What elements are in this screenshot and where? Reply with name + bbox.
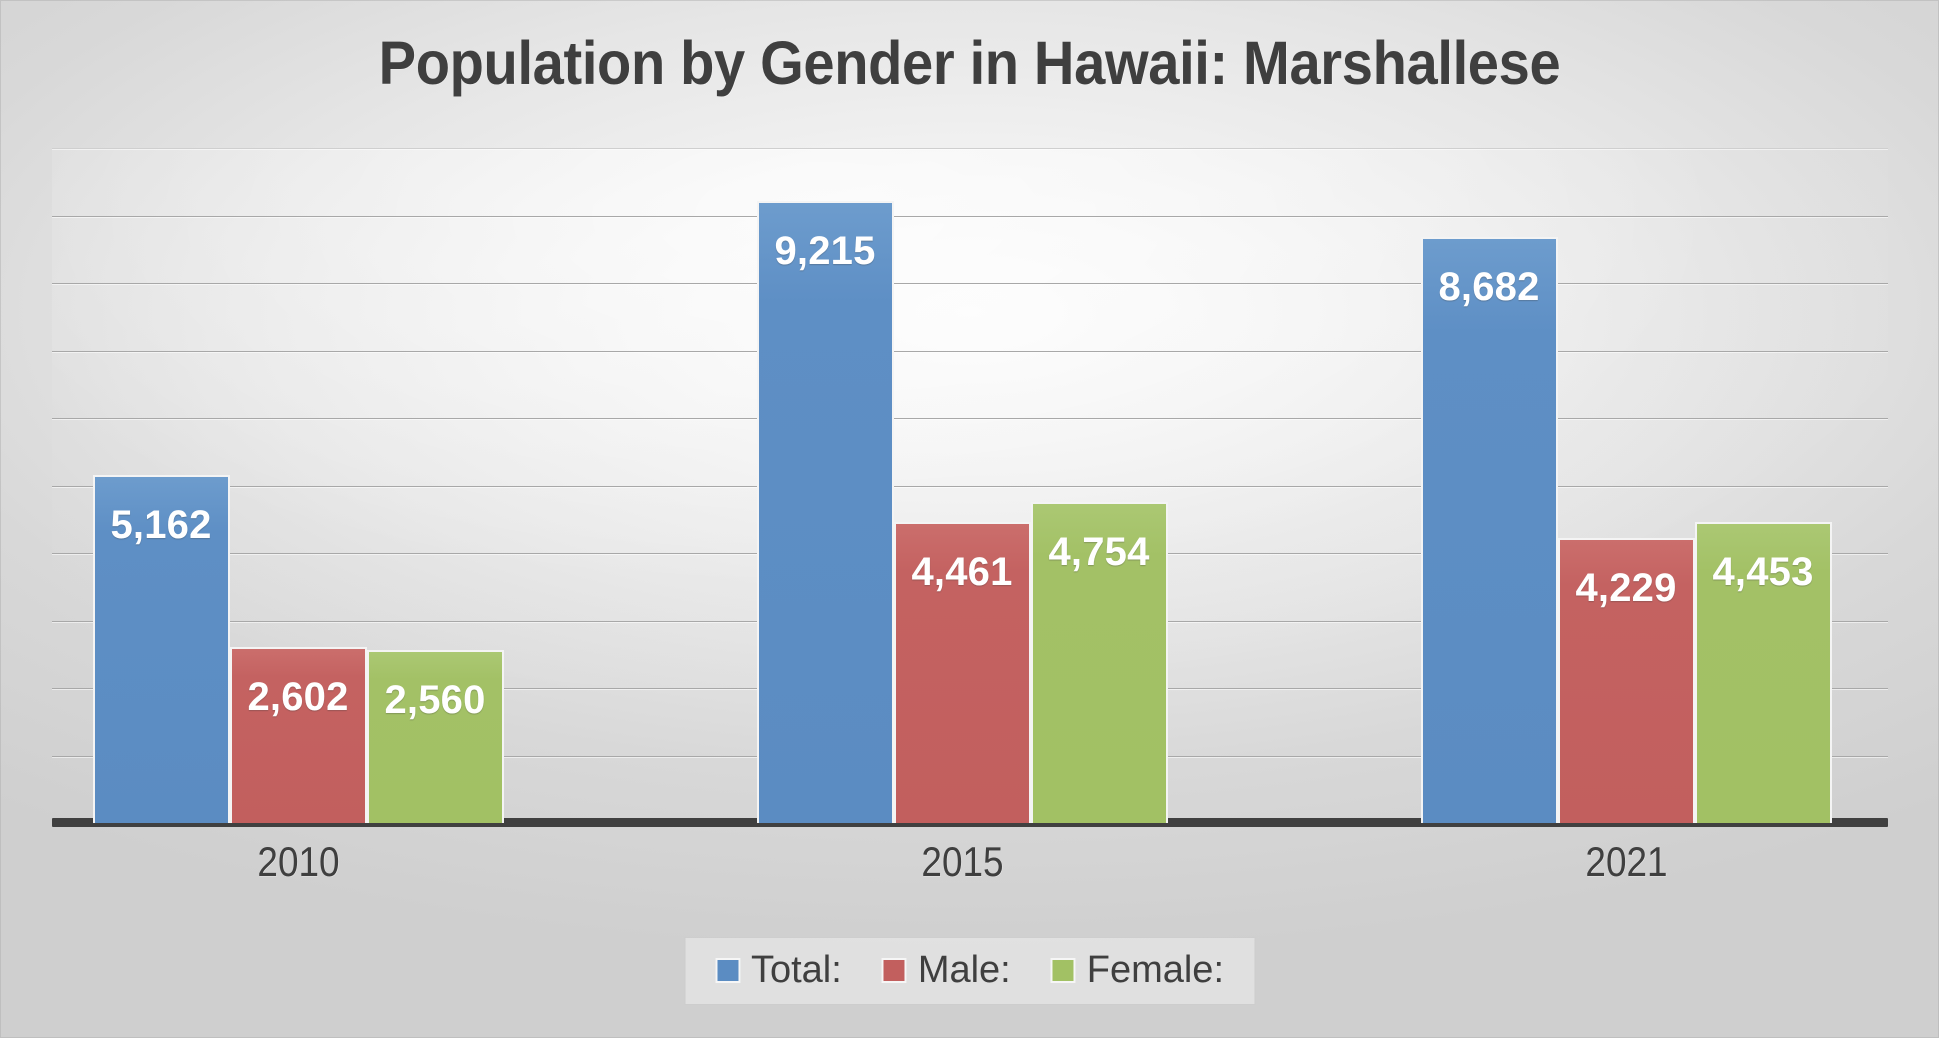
bar-2021-female[interactable]: 4,453 <box>1695 522 1832 823</box>
category-label-2015: 2015 <box>781 838 1143 886</box>
bar-2010-female[interactable]: 2,560 <box>367 650 504 823</box>
bar-2021-total[interactable]: 8,682 <box>1421 237 1558 823</box>
bar-value-label: 9,215 <box>774 229 875 274</box>
x-axis-category-labels: 201020152021 <box>52 838 1888 902</box>
chart-legend: Total:Male:Female: <box>685 938 1254 1004</box>
bar-value-label: 4,453 <box>1712 550 1813 595</box>
legend-item-total[interactable]: Total: <box>715 951 842 989</box>
chart-title: Population by Gender in Hawaii: Marshall… <box>78 28 1862 98</box>
bar-2010-male[interactable]: 2,602 <box>230 647 367 823</box>
legend-swatch-icon <box>1051 958 1076 983</box>
chart-container: Population by Gender in Hawaii: Marshall… <box>0 0 1939 1038</box>
category-label-2021: 2021 <box>1445 838 1807 886</box>
legend-label: Male: <box>918 951 1011 989</box>
bar-value-label: 4,754 <box>1048 530 1149 575</box>
legend-swatch-icon <box>882 958 907 983</box>
legend-swatch-icon <box>715 958 740 983</box>
category-label-2010: 2010 <box>117 838 479 886</box>
bar-value-label: 8,682 <box>1438 265 1539 310</box>
legend-label: Total: <box>751 951 842 989</box>
bar-2010-total[interactable]: 5,162 <box>93 475 230 823</box>
legend-item-male[interactable]: Male: <box>882 951 1011 989</box>
bar-value-label: 4,461 <box>911 550 1012 595</box>
bar-value-label: 4,229 <box>1575 566 1676 611</box>
bar-2015-total[interactable]: 9,215 <box>757 201 894 823</box>
bar-value-label: 2,602 <box>247 675 348 720</box>
bar-2021-male[interactable]: 4,229 <box>1558 538 1695 823</box>
bar-value-label: 2,560 <box>384 678 485 723</box>
legend-label: Female: <box>1087 951 1224 989</box>
bar-2015-female[interactable]: 4,754 <box>1031 502 1168 823</box>
legend-item-female[interactable]: Female: <box>1051 951 1224 989</box>
bar-2015-male[interactable]: 4,461 <box>894 522 1031 823</box>
bars-layer: 5,1622,6022,5609,2154,4614,7548,6824,229… <box>52 148 1888 823</box>
bar-value-label: 5,162 <box>110 503 211 548</box>
